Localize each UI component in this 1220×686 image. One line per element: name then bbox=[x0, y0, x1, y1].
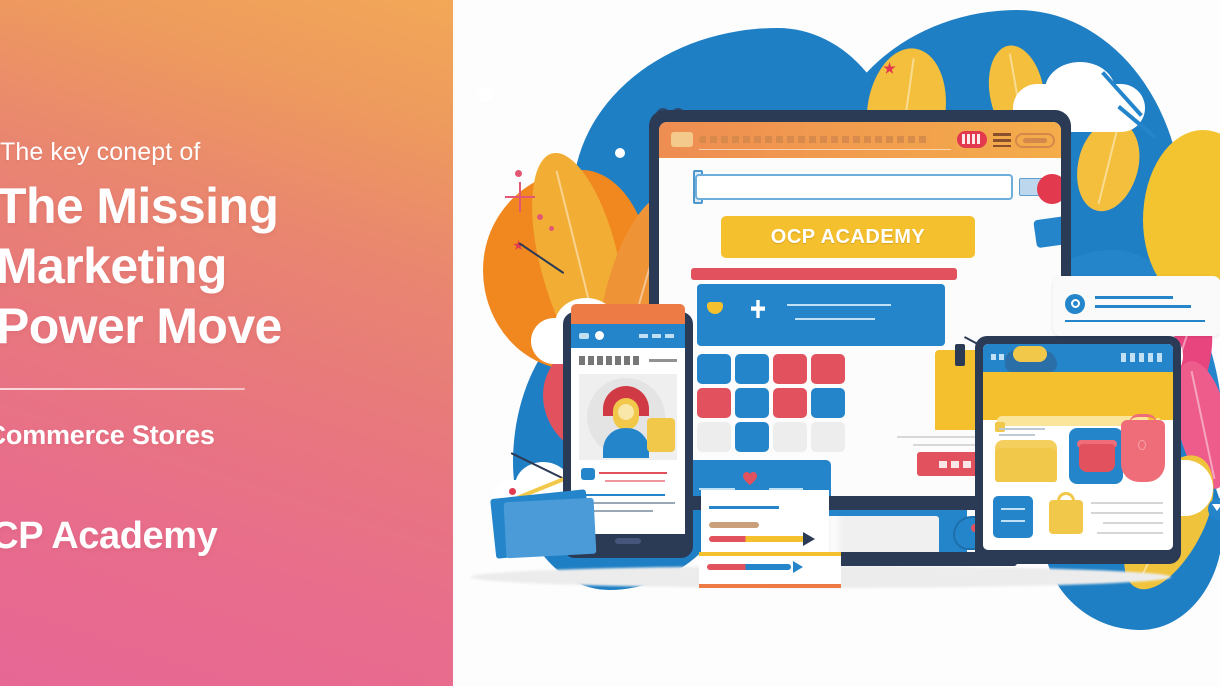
brand-name: OCP Academy bbox=[0, 515, 432, 558]
phone-home-indicator[interactable] bbox=[615, 538, 641, 544]
arrow-up-icon bbox=[1212, 504, 1220, 511]
product-text-line bbox=[1091, 502, 1163, 504]
divider bbox=[0, 388, 245, 390]
eyebrow-text: The key conept of bbox=[0, 138, 430, 167]
user-icon bbox=[1071, 299, 1080, 308]
toolbar-capsule-fill bbox=[1023, 138, 1047, 143]
product-grid-cell[interactable] bbox=[697, 388, 731, 418]
hero-card-line bbox=[795, 318, 875, 320]
card-stack-front bbox=[504, 498, 597, 559]
notification-badge-text bbox=[962, 134, 982, 144]
pink-dot-icon bbox=[515, 170, 522, 177]
apron-pocket-icon bbox=[1138, 440, 1146, 450]
apron-icon bbox=[1121, 420, 1165, 482]
product-grid-cell[interactable] bbox=[773, 388, 807, 418]
progress-arrow bbox=[709, 536, 805, 542]
product-grid-cell[interactable] bbox=[773, 354, 807, 384]
product-grid bbox=[697, 354, 849, 452]
headline-line-2: Marketing bbox=[0, 236, 453, 296]
product-grid-cell[interactable] bbox=[811, 354, 845, 384]
bag-icon bbox=[1049, 500, 1083, 534]
phone-text-line bbox=[581, 494, 665, 496]
pink-dot-icon bbox=[549, 226, 554, 231]
hand-sleeve bbox=[1013, 346, 1047, 362]
arrow-head-icon bbox=[803, 532, 815, 546]
product-grid-cell[interactable] bbox=[811, 422, 845, 452]
url-text bbox=[699, 136, 929, 143]
lamp-icon bbox=[995, 422, 1005, 432]
subtitle-text: E-Commerce Stores bbox=[0, 420, 430, 451]
product-text-line bbox=[999, 428, 1045, 430]
plus-icon bbox=[519, 182, 521, 212]
red-badge-icon[interactable] bbox=[1037, 174, 1061, 204]
phone-text-line bbox=[599, 472, 667, 474]
notification-line bbox=[1095, 296, 1173, 299]
title-panel-inner: The key conept of The Missing Marketing … bbox=[0, 0, 453, 686]
red-dot-icon bbox=[509, 488, 516, 495]
tablet-status-icon bbox=[1121, 353, 1165, 362]
blue-badge-icon bbox=[1033, 216, 1061, 248]
headline-line-3: Power Move bbox=[0, 296, 453, 356]
product-grid-cell[interactable] bbox=[773, 422, 807, 452]
hero-card bbox=[697, 284, 945, 346]
product-text-line bbox=[1103, 522, 1163, 524]
metrics-line bbox=[709, 522, 759, 528]
hamburger-menu-icon[interactable] bbox=[993, 133, 1011, 147]
url-underline bbox=[699, 149, 951, 150]
phone-text-line bbox=[605, 480, 665, 482]
product-grid-cell[interactable] bbox=[697, 354, 731, 384]
product-card-line bbox=[1001, 520, 1025, 522]
page-title: The Missing Marketing Power Move bbox=[0, 176, 453, 356]
banner-underbar bbox=[691, 268, 957, 280]
pot-icon bbox=[1079, 444, 1115, 472]
metrics-panel-secondary bbox=[699, 552, 841, 588]
avatar-highlight bbox=[618, 404, 634, 420]
notification-line bbox=[1065, 320, 1205, 322]
product-grid-cell[interactable] bbox=[735, 422, 769, 452]
phone-list-title bbox=[579, 356, 641, 365]
phone-status-icon bbox=[579, 333, 589, 339]
product-box-icon bbox=[647, 418, 675, 452]
headline-line-1: The Missing bbox=[0, 176, 453, 236]
search-input[interactable] bbox=[695, 174, 1013, 200]
favicon-icon bbox=[671, 132, 693, 147]
title-panel: The key conept of The Missing Marketing … bbox=[0, 0, 453, 686]
product-text-line bbox=[1097, 532, 1163, 534]
product-grid-cell[interactable] bbox=[735, 388, 769, 418]
tablet-search-banner bbox=[983, 372, 1173, 420]
slide-canvas: The key conept of The Missing Marketing … bbox=[0, 0, 1220, 686]
notification-line bbox=[1095, 305, 1191, 308]
metrics-line bbox=[709, 506, 779, 509]
product-grid-cell[interactable] bbox=[697, 422, 731, 452]
phone-tag-icon bbox=[581, 468, 595, 480]
phone-top-accent bbox=[571, 304, 685, 326]
couch-icon bbox=[995, 448, 1057, 482]
hero-card-line bbox=[787, 304, 891, 306]
progress-arrow bbox=[707, 564, 791, 570]
browser-toolbar[interactable] bbox=[659, 122, 1061, 158]
white-dot-icon bbox=[478, 88, 492, 102]
phone-text-line bbox=[581, 502, 675, 504]
white-dot-icon bbox=[615, 148, 625, 158]
product-card[interactable] bbox=[993, 496, 1033, 538]
academy-banner: OCP ACADEMY bbox=[721, 216, 975, 258]
phone-status-icon bbox=[639, 334, 675, 338]
product-text-line bbox=[1091, 512, 1163, 514]
phone-list-subtitle bbox=[649, 359, 677, 362]
product-grid-cell[interactable] bbox=[811, 388, 845, 418]
phone-status-icon bbox=[595, 331, 604, 340]
product-grid-cell[interactable] bbox=[735, 354, 769, 384]
pen-icon bbox=[955, 344, 965, 366]
product-text-line bbox=[999, 434, 1035, 436]
illustration: OCP ACADEMY bbox=[453, 0, 1220, 686]
tablet-screen[interactable] bbox=[983, 344, 1173, 550]
pink-dot-icon bbox=[537, 214, 543, 220]
arrow-head-icon bbox=[793, 561, 803, 573]
academy-banner-label: OCP ACADEMY bbox=[771, 226, 925, 249]
product-card-line bbox=[1001, 508, 1025, 510]
